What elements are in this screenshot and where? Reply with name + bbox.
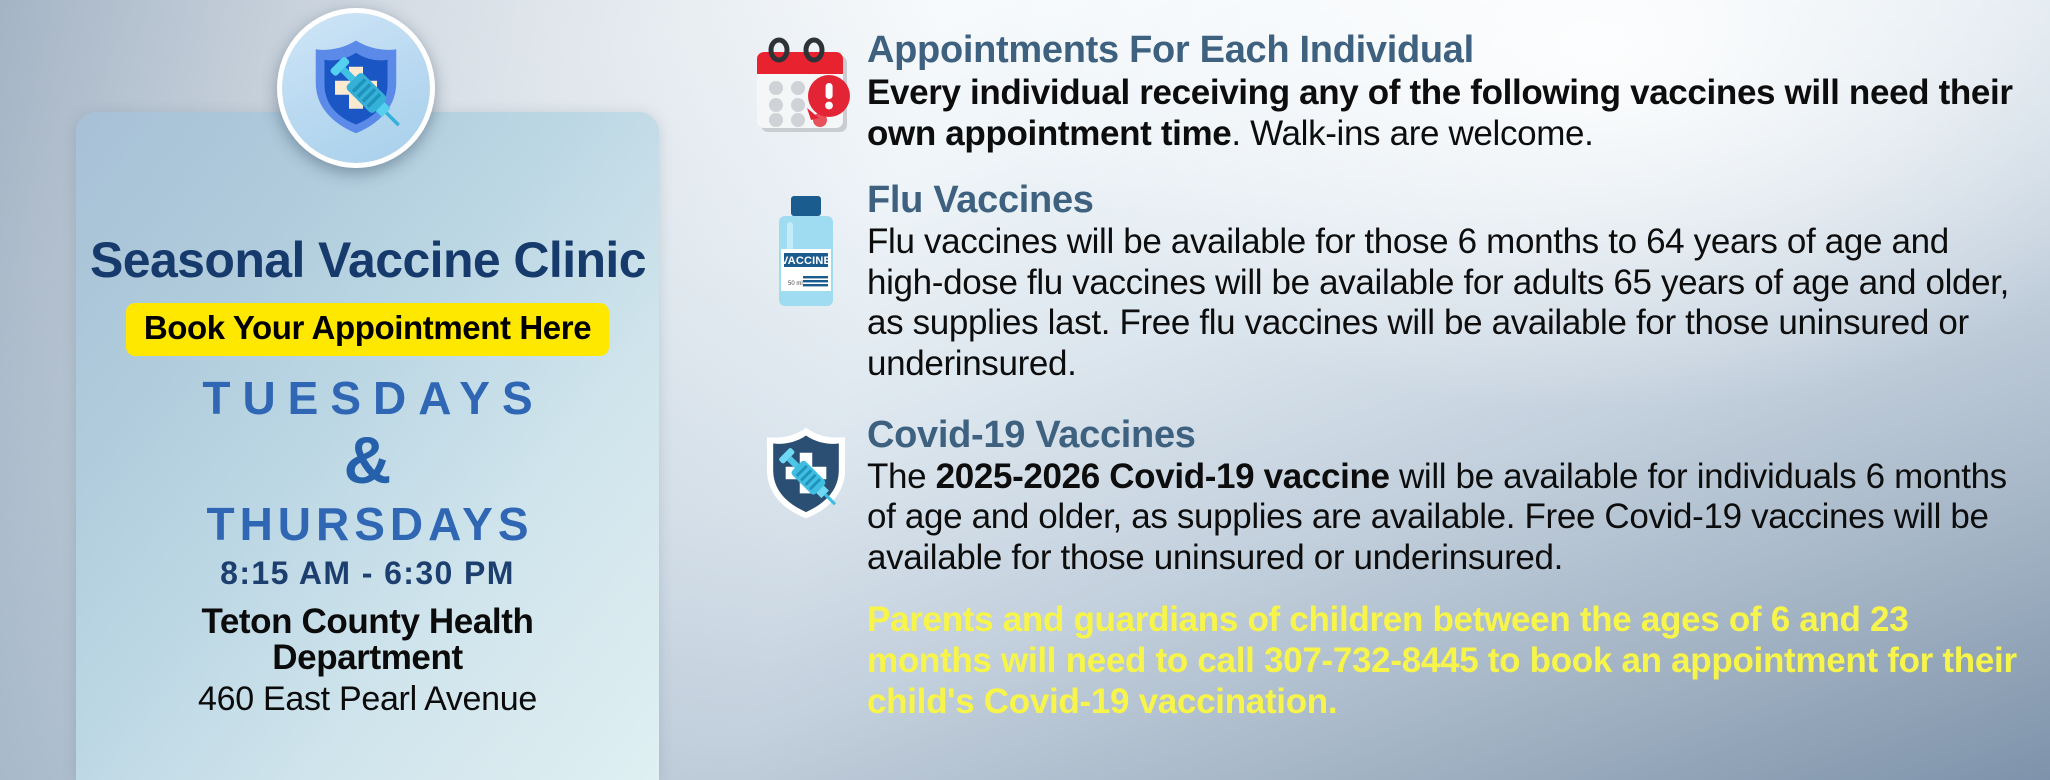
appointments-walkin-note: . Walk-ins are welcome.	[1231, 114, 1593, 153]
section-body-covid: The 2025-2026 Covid-19 vaccine will be a…	[867, 457, 2030, 579]
covid-vaccine-emphasis: 2025-2026 Covid-19 vaccine	[936, 457, 1390, 496]
covid-text: Covid-19 Vaccines The 2025-2026 Covid-19…	[867, 415, 2030, 579]
section-body-flu: Flu vaccines will be available for those…	[867, 222, 2030, 384]
page-title: Seasonal Vaccine Clinic	[90, 234, 645, 287]
parent-guardian-notice: Parents and guardians of children betwee…	[867, 600, 2030, 722]
vaccine-info-sections: Appointments For Each Individual Every i…	[745, 30, 2030, 722]
ampersand-separator: &	[90, 424, 645, 497]
shield-syringe-icon	[745, 415, 867, 528]
clinic-logo-badge	[277, 8, 435, 168]
clinic-hours: 8:15 AM - 6:30 PM	[90, 555, 645, 592]
section-title-covid: Covid-19 Vaccines	[867, 415, 2030, 456]
section-covid: Covid-19 Vaccines The 2025-2026 Covid-19…	[745, 415, 2030, 579]
clinic-info-content: Seasonal Vaccine Clinic Book Your Appoin…	[76, 234, 659, 719]
vial-label-text: VACCINE	[781, 255, 831, 267]
section-title-flu: Flu Vaccines	[867, 180, 2030, 221]
covid-body-pre: The	[867, 457, 936, 496]
clinic-day-thursdays: THURSDAYS	[90, 500, 645, 548]
section-flu: VACCINE 50 ml Flu Vaccines Flu vaccines …	[745, 180, 2030, 384]
vial-volume-text: 50 ml	[788, 281, 803, 287]
flu-text: Flu Vaccines Flu vaccines will be availa…	[867, 180, 2030, 384]
section-body-appointments: Every individual receiving any of the fo…	[867, 73, 2030, 154]
department-name-line1: Teton County Health	[90, 604, 645, 641]
shield-syringe-icon	[300, 30, 412, 147]
department-address: 460 East Pearl Avenue	[90, 680, 645, 719]
department-name-line2: Department	[90, 640, 645, 677]
department-name: Teton County Health Department	[90, 604, 645, 678]
appointments-text: Appointments For Each Individual Every i…	[867, 30, 2030, 154]
book-appointment-button[interactable]: Book Your Appointment Here	[126, 303, 609, 356]
vaccine-vial-icon: VACCINE 50 ml	[745, 180, 867, 315]
calendar-alert-icon	[745, 30, 867, 138]
section-title-appointments: Appointments For Each Individual	[867, 30, 2030, 71]
section-appointments: Appointments For Each Individual Every i…	[745, 30, 2030, 154]
clinic-day-tuesdays: TUESDAYS	[90, 374, 645, 422]
clinic-info-card: Seasonal Vaccine Clinic Book Your Appoin…	[76, 112, 659, 780]
